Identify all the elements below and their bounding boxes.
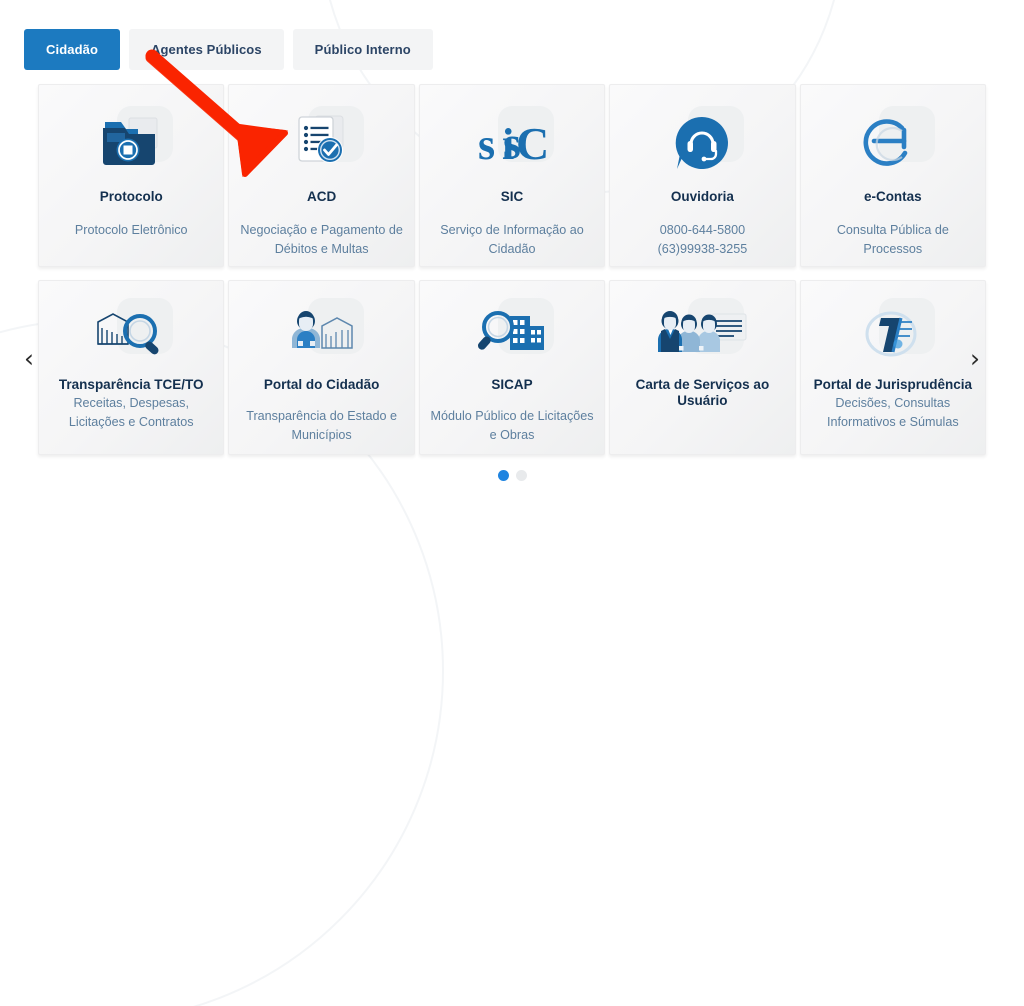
building-magnifier-icon xyxy=(92,308,170,362)
service-card-icon-area xyxy=(801,103,985,183)
carousel-next-arrow-icon[interactable]: › xyxy=(962,343,988,373)
service-card-subtitle: Módulo Público de Licitações e Obras xyxy=(420,407,604,445)
service-card-icon-area xyxy=(39,103,223,183)
service-card-title: Carta de Serviços ao Usuário xyxy=(610,377,794,409)
service-card-title: SICAP xyxy=(483,377,540,393)
service-card-subtitle: Decisões, Consultas Informativos e Súmul… xyxy=(801,394,985,432)
svg-text:s: s xyxy=(478,120,495,169)
service-card-title: Ouvidoria xyxy=(663,189,742,205)
service-card-title: Protocolo xyxy=(92,189,171,205)
tab-cidadao-label: Cidadão xyxy=(46,42,98,57)
service-card-icon-area xyxy=(801,299,985,371)
service-card-subtitle: Serviço de Informação ao Cidadão xyxy=(420,221,604,259)
headset-speech-bubble-icon xyxy=(671,113,733,173)
tab-cidadao[interactable]: Cidadão xyxy=(24,29,120,70)
carousel-prev-glyph: ‹ xyxy=(24,346,34,371)
service-card-subtitle: Receitas, Despesas, Licitações e Contrat… xyxy=(39,394,223,432)
service-card-title: ACD xyxy=(299,189,344,205)
tab-publico-interno[interactable]: Público Interno xyxy=(293,29,433,70)
svg-text:C: C xyxy=(516,118,549,169)
audience-tab-bar: Cidadão Agentes Públicos Público Interno xyxy=(24,29,433,70)
citizen-building-icon xyxy=(284,308,360,362)
service-card-transparencia-tce-to[interactable]: Transparência TCE/TO Receitas, Despesas,… xyxy=(38,280,224,455)
service-card-subtitle: Protocolo Eletrônico xyxy=(65,221,198,240)
service-card-icon-area xyxy=(39,299,223,371)
service-card-subtitle: Consulta Pública de Processos xyxy=(801,221,985,259)
e-letter-icon xyxy=(861,113,925,173)
carousel-dot-1[interactable] xyxy=(498,470,509,481)
service-card-ouvidoria[interactable]: Ouvidoria 0800-644-5800 (63)99938-3255 xyxy=(609,84,795,267)
service-card-icon-area xyxy=(229,103,413,183)
service-card-subtitle: Transparência do Estado e Municípios xyxy=(229,407,413,445)
service-card-icon-area xyxy=(610,299,794,371)
service-card-title: SIC xyxy=(493,189,532,205)
service-card-acd[interactable]: ACD Negociação e Pagamento de Débitos e … xyxy=(228,84,414,267)
people-document-icon xyxy=(654,308,750,362)
service-card-subtitle: Negociação e Pagamento de Débitos e Mult… xyxy=(229,221,413,259)
service-card-icon-area xyxy=(420,299,604,371)
tab-agentes-publicos-label: Agentes Públicos xyxy=(151,42,262,57)
tab-publico-interno-label: Público Interno xyxy=(315,42,411,57)
service-card-icon-area xyxy=(229,299,413,371)
carousel-dot-2[interactable] xyxy=(516,470,527,481)
carousel-next-glyph: › xyxy=(970,346,980,371)
numeral-one-icon xyxy=(860,308,926,362)
service-card-carta-de-servicos-ao-usuario[interactable]: Carta de Serviços ao Usuário xyxy=(609,280,795,455)
service-card-title: Transparência TCE/TO xyxy=(51,377,212,393)
service-portal-page: Cidadão Agentes Públicos Público Interno xyxy=(0,0,1024,503)
service-card-title: e-Contas xyxy=(856,189,930,205)
carousel-pagination xyxy=(0,470,1024,481)
service-card-protocolo[interactable]: Protocolo Protocolo Eletrônico xyxy=(38,84,224,267)
checklist-document-icon xyxy=(289,111,355,175)
folder-document-icon xyxy=(95,112,167,174)
services-carousel: Protocolo Protocolo Eletrônico xyxy=(0,84,1024,459)
service-card-title: Portal do Cidadão xyxy=(256,377,388,393)
carousel-prev-arrow-icon[interactable]: ‹ xyxy=(16,343,42,373)
sic-wordmark-icon: s x s i C xyxy=(466,114,558,172)
svg-text:i: i xyxy=(502,120,514,169)
service-card-icon-area xyxy=(610,103,794,183)
service-card-icon-area: s x s i C xyxy=(420,103,604,183)
tab-agentes-publicos[interactable]: Agentes Públicos xyxy=(129,29,284,70)
services-row-1: Protocolo Protocolo Eletrônico xyxy=(38,84,986,267)
service-card-sicap[interactable]: SICAP Módulo Público de Licitações e Obr… xyxy=(419,280,605,455)
service-card-portal-do-cidadao[interactable]: Portal do Cidadão Transparência do Estad… xyxy=(228,280,414,455)
service-card-e-contas[interactable]: e-Contas Consulta Pública de Processos xyxy=(800,84,986,267)
service-card-sic[interactable]: s x s i C SIC Serviço de Informação ao C… xyxy=(419,84,605,267)
service-card-portal-de-jurisprudencia[interactable]: Portal de Jurisprudência Decisões, Consu… xyxy=(800,280,986,455)
service-card-subtitle: 0800-644-5800 (63)99938-3255 xyxy=(648,221,758,259)
magnifier-buildings-icon xyxy=(476,308,548,362)
services-row-2: Transparência TCE/TO Receitas, Despesas,… xyxy=(38,280,986,455)
service-card-title: Portal de Jurisprudência xyxy=(806,377,980,393)
